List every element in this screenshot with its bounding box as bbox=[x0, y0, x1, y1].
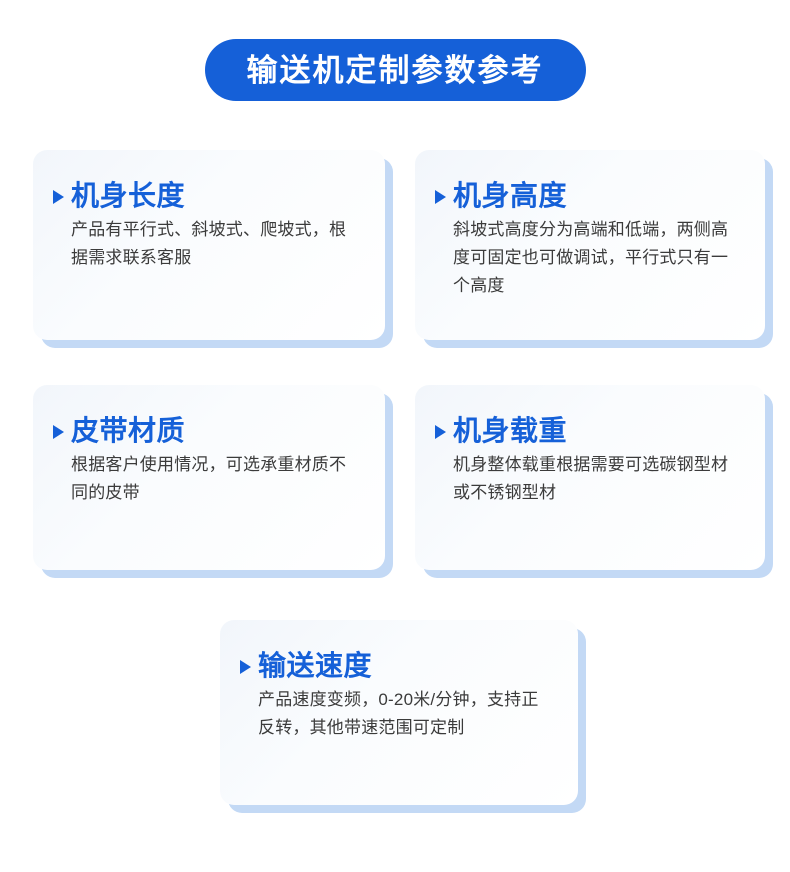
spec-card-load-capacity[interactable]: 机身载重 机身整体载重根据需要可选碳钢型材或不锈钢型材 bbox=[415, 385, 765, 570]
card-header: 机身高度 bbox=[435, 180, 741, 212]
spec-card-belt-material[interactable]: 皮带材质 根据客户使用情况，可选承重材质不同的皮带 bbox=[33, 385, 385, 570]
card-title: 皮带材质 bbox=[71, 415, 185, 447]
card-title: 机身载重 bbox=[453, 415, 567, 447]
page-header: 输送机定制参数参考 bbox=[0, 39, 790, 101]
card-description: 斜坡式高度分为高端和低端，两侧高度可固定也可做调试，平行式只有一个高度 bbox=[453, 216, 741, 300]
triangle-right-icon bbox=[435, 425, 446, 439]
triangle-right-icon bbox=[53, 190, 64, 204]
card-title: 输送速度 bbox=[258, 650, 372, 682]
spec-card-body-length[interactable]: 机身长度 产品有平行式、斜坡式、爬坡式，根据需求联系客服 bbox=[33, 150, 385, 340]
triangle-right-icon bbox=[435, 190, 446, 204]
card-header: 机身长度 bbox=[53, 180, 361, 212]
spec-card-body-height[interactable]: 机身高度 斜坡式高度分为高端和低端，两侧高度可固定也可做调试，平行式只有一个高度 bbox=[415, 150, 765, 340]
card-description: 机身整体载重根据需要可选碳钢型材或不锈钢型材 bbox=[453, 451, 741, 507]
page-title: 输送机定制参数参考 bbox=[205, 39, 586, 101]
card-title: 机身长度 bbox=[71, 180, 185, 212]
triangle-right-icon bbox=[53, 425, 64, 439]
card-description: 产品有平行式、斜坡式、爬坡式，根据需求联系客服 bbox=[71, 216, 361, 272]
card-header: 输送速度 bbox=[240, 650, 554, 682]
card-title: 机身高度 bbox=[453, 180, 567, 212]
card-header: 皮带材质 bbox=[53, 415, 361, 447]
card-header: 机身载重 bbox=[435, 415, 741, 447]
card-description: 产品速度变频，0-20米/分钟，支持正反转，其他带速范围可定制 bbox=[258, 686, 554, 742]
card-description: 根据客户使用情况，可选承重材质不同的皮带 bbox=[71, 451, 361, 507]
triangle-right-icon bbox=[240, 660, 251, 674]
spec-card-conveying-speed[interactable]: 输送速度 产品速度变频，0-20米/分钟，支持正反转，其他带速范围可定制 bbox=[220, 620, 578, 805]
